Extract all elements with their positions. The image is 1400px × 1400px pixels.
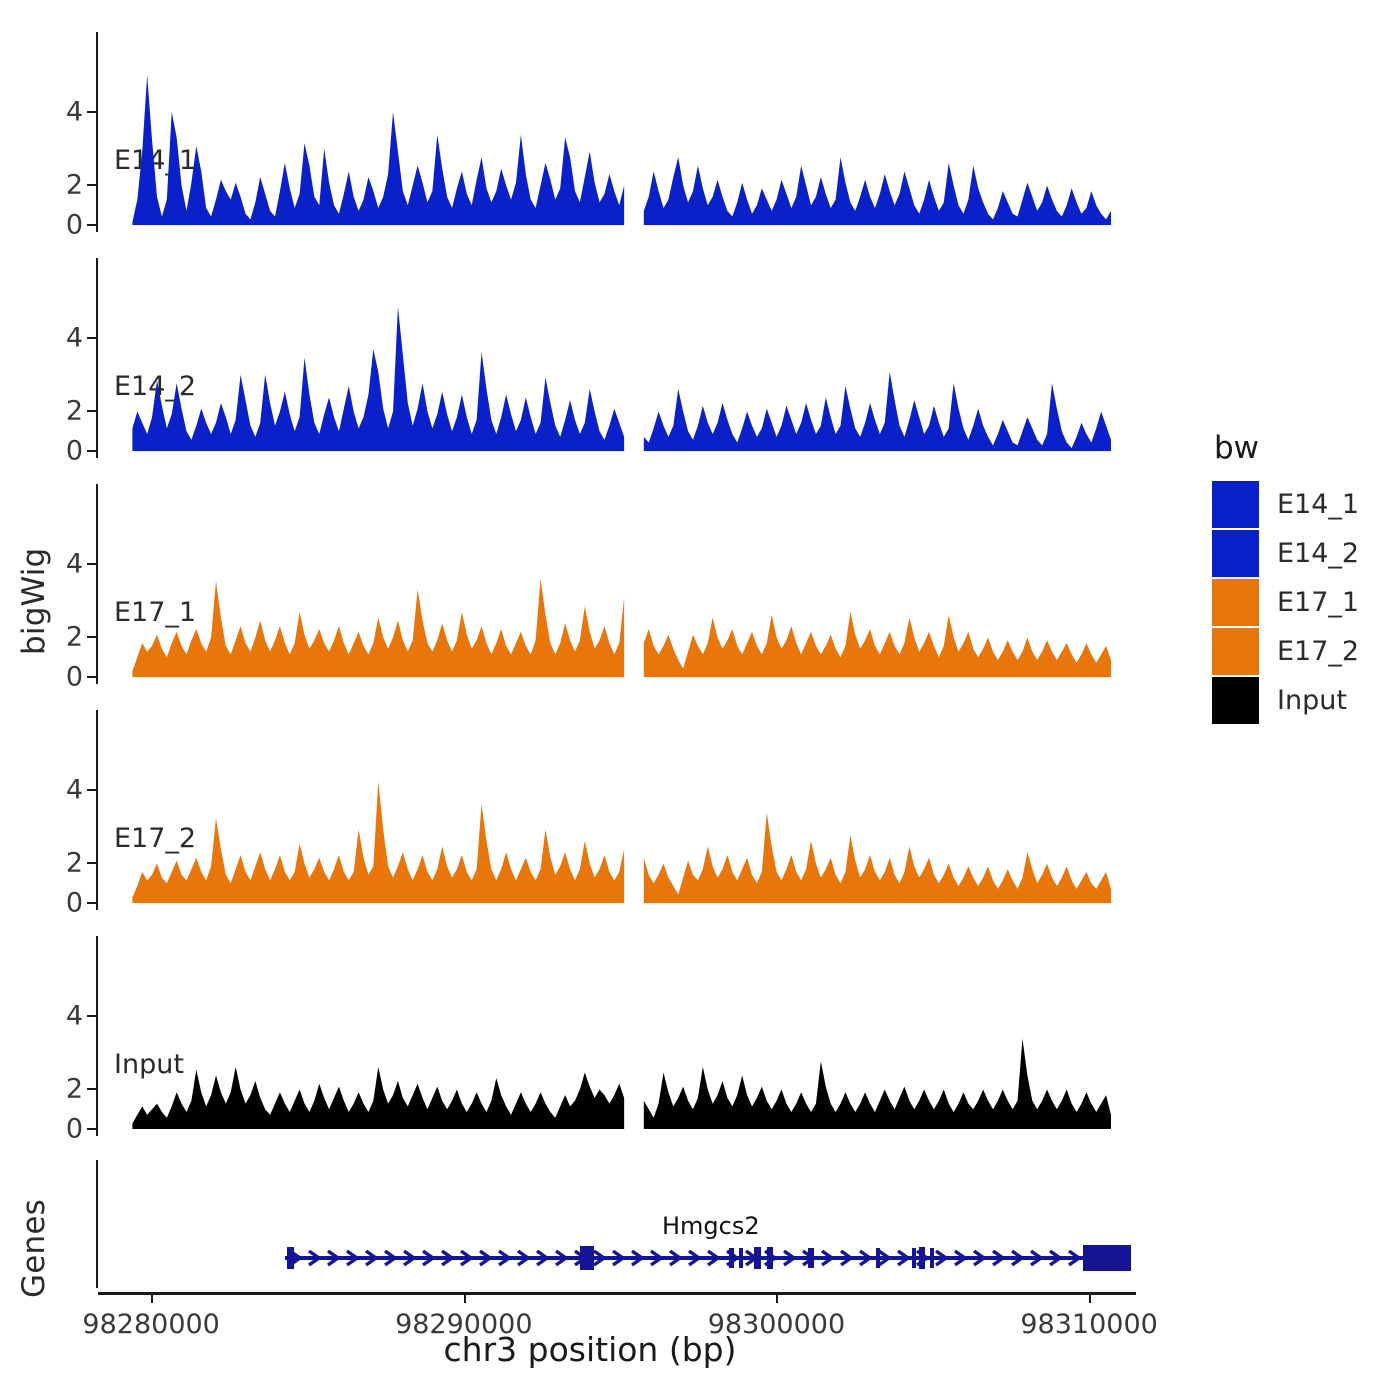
y-tick xyxy=(87,789,96,791)
legend-label: E17_2 xyxy=(1277,636,1359,667)
legend-title: bw xyxy=(1214,430,1392,466)
x-tick xyxy=(151,1292,153,1303)
legend-entry-e14_1[interactable]: E14_1 xyxy=(1212,480,1392,529)
legend-swatch-e14_2 xyxy=(1212,530,1259,577)
y-tick xyxy=(87,111,96,113)
legend-label: E14_1 xyxy=(1277,489,1359,520)
legend-label: E17_1 xyxy=(1277,587,1359,618)
y-tick-label: 2 xyxy=(66,170,83,201)
x-tick xyxy=(776,1292,778,1303)
legend-label: E14_2 xyxy=(1277,538,1359,569)
y-tick xyxy=(87,563,96,565)
y-tick-label: 4 xyxy=(66,1001,83,1032)
y-tick-label: 0 xyxy=(66,436,83,467)
y-tick-label: 0 xyxy=(66,662,83,693)
y-tick-label: 0 xyxy=(66,1114,83,1145)
y-tick-label: 2 xyxy=(66,1074,83,1105)
track-area-e17_2[interactable] xyxy=(98,710,1136,910)
y-tick xyxy=(87,636,96,638)
track-panel-e17_2: 024E17_2 xyxy=(96,710,1136,910)
legend-label: Input xyxy=(1277,685,1347,716)
y-tick xyxy=(87,902,96,904)
y-tick-label: 4 xyxy=(66,775,83,806)
y-tick xyxy=(87,1088,96,1090)
legend-entry-e17_1[interactable]: E17_1 xyxy=(1212,578,1392,627)
legend-entry-e17_2[interactable]: E17_2 xyxy=(1212,627,1392,676)
x-tick xyxy=(464,1292,466,1303)
track-panel-input: 024Input xyxy=(96,936,1136,1136)
y-tick xyxy=(87,450,96,452)
x-tick xyxy=(1089,1292,1091,1303)
y-tick-label: 2 xyxy=(66,622,83,653)
y-tick-label: 2 xyxy=(66,396,83,427)
y-tick-label: 2 xyxy=(66,848,83,879)
x-axis-title: chr3 position (bp) xyxy=(0,1330,1180,1369)
y-tick xyxy=(87,862,96,864)
legend-entry-e14_2[interactable]: E14_2 xyxy=(1212,529,1392,578)
track-area-input[interactable] xyxy=(98,936,1136,1136)
y-axis-label-genes: Genes xyxy=(16,1168,52,1298)
track-area-e14_2[interactable] xyxy=(98,258,1136,458)
y-tick-label: 0 xyxy=(66,210,83,241)
track-panel-e14_2: 024E14_2 xyxy=(96,258,1136,458)
y-tick xyxy=(87,184,96,186)
y-tick xyxy=(87,224,96,226)
legend-entries: E14_1E14_2E17_1E17_2Input xyxy=(1212,480,1392,725)
x-axis-line xyxy=(98,1292,1136,1295)
y-tick-label: 0 xyxy=(66,888,83,919)
track-panel-e14_1: 024E14_1 xyxy=(96,32,1136,232)
legend-swatch-e17_1 xyxy=(1212,579,1259,626)
legend-swatch-e17_2 xyxy=(1212,628,1259,675)
y-tick xyxy=(87,676,96,678)
y-tick-label: 4 xyxy=(66,549,83,580)
legend-entry-input[interactable]: Input xyxy=(1212,676,1392,725)
legend: bw E14_1E14_2E17_1E17_2Input xyxy=(1212,430,1392,725)
legend-swatch-input xyxy=(1212,677,1259,724)
track-area-e14_1[interactable] xyxy=(98,32,1136,232)
y-tick xyxy=(87,1015,96,1017)
track-panel-e17_1: 024E17_1 xyxy=(96,484,1136,684)
y-axis-label-bigwig: bigWig xyxy=(16,505,52,655)
y-tick xyxy=(87,337,96,339)
y-tick xyxy=(87,410,96,412)
figure-root: bigWig Genes 024E14_1024E14_2024E17_1024… xyxy=(0,0,1400,1400)
track-area-e17_1[interactable] xyxy=(98,484,1136,684)
y-tick-label: 4 xyxy=(66,323,83,354)
y-tick xyxy=(87,1128,96,1130)
y-tick-label: 4 xyxy=(66,97,83,128)
legend-swatch-e14_1 xyxy=(1212,481,1259,528)
